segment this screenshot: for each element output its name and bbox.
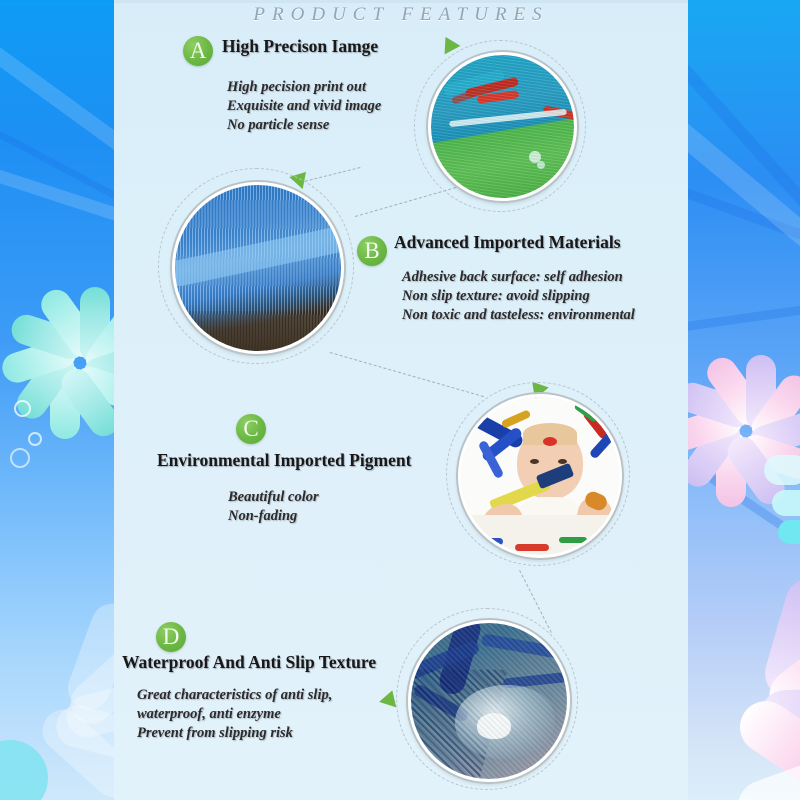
feature-lines-a: High pecision print out Exquisite and vi… (227, 78, 381, 135)
top-divider-rule (114, 0, 688, 3)
decor-ray (0, 160, 114, 250)
left-decorative-band (0, 0, 114, 800)
feature-line: No particle sense (227, 116, 381, 135)
accent-blob (0, 740, 48, 800)
feature-heading-d: Waterproof And Anti Slip Texture (122, 652, 376, 673)
feature-line: Non-fading (228, 507, 319, 526)
feature-lines-b: Adhesive back surface: self adhesion Non… (402, 268, 635, 325)
feature-lines-c: Beautiful color Non-fading (228, 488, 319, 526)
product-features-infographic: PRODUCT FEATURES A High Precison Iamge H… (0, 0, 800, 800)
swirl-detail (10, 448, 30, 468)
feature-line: Beautiful color (228, 488, 319, 507)
feature-line: Exquisite and vivid image (227, 97, 381, 116)
feature-photo-d (408, 620, 570, 782)
pink-flower-decoration (730, 430, 732, 432)
white-flower-decoration (702, 790, 704, 792)
feature-photo-b (172, 182, 344, 354)
feature-badge-d: D (156, 622, 186, 652)
feature-line: High pecision print out (227, 78, 381, 97)
pink-flower-decoration-lower (732, 690, 734, 692)
swirl-detail (14, 400, 31, 417)
feature-badge-c: C (236, 414, 266, 444)
accent-blob (778, 520, 800, 544)
teal-flower-decoration (64, 362, 66, 364)
decor-ray (688, 294, 800, 339)
feature-photo-a (428, 52, 577, 201)
feature-line: Great characteristics of anti slip, (137, 686, 332, 705)
feature-line: Adhesive back surface: self adhesion (402, 268, 635, 287)
feature-heading-b: Advanced Imported Materials (394, 232, 621, 253)
feature-badge-a: A (183, 36, 213, 66)
feature-heading-a: High Precison Iamge (222, 36, 378, 57)
accent-blob (772, 490, 800, 516)
accent-blob (764, 455, 800, 485)
feature-lines-d: Great characteristics of anti slip, wate… (137, 686, 332, 743)
page-title: PRODUCT FEATURES (114, 4, 688, 26)
feature-line: waterproof, anti enzyme (137, 705, 332, 724)
right-decorative-band (688, 0, 800, 800)
feature-line: Non slip texture: avoid slipping (402, 287, 635, 306)
pale-flower-decoration (40, 700, 42, 702)
swirl-detail (28, 432, 42, 446)
feature-badge-b: B (357, 236, 387, 266)
feature-line: Non toxic and tasteless: environmental (402, 306, 635, 325)
feature-heading-c: Environmental Imported Pigment (157, 450, 411, 471)
feature-photo-c (458, 394, 622, 558)
feature-line: Prevent from slipping risk (137, 724, 332, 743)
